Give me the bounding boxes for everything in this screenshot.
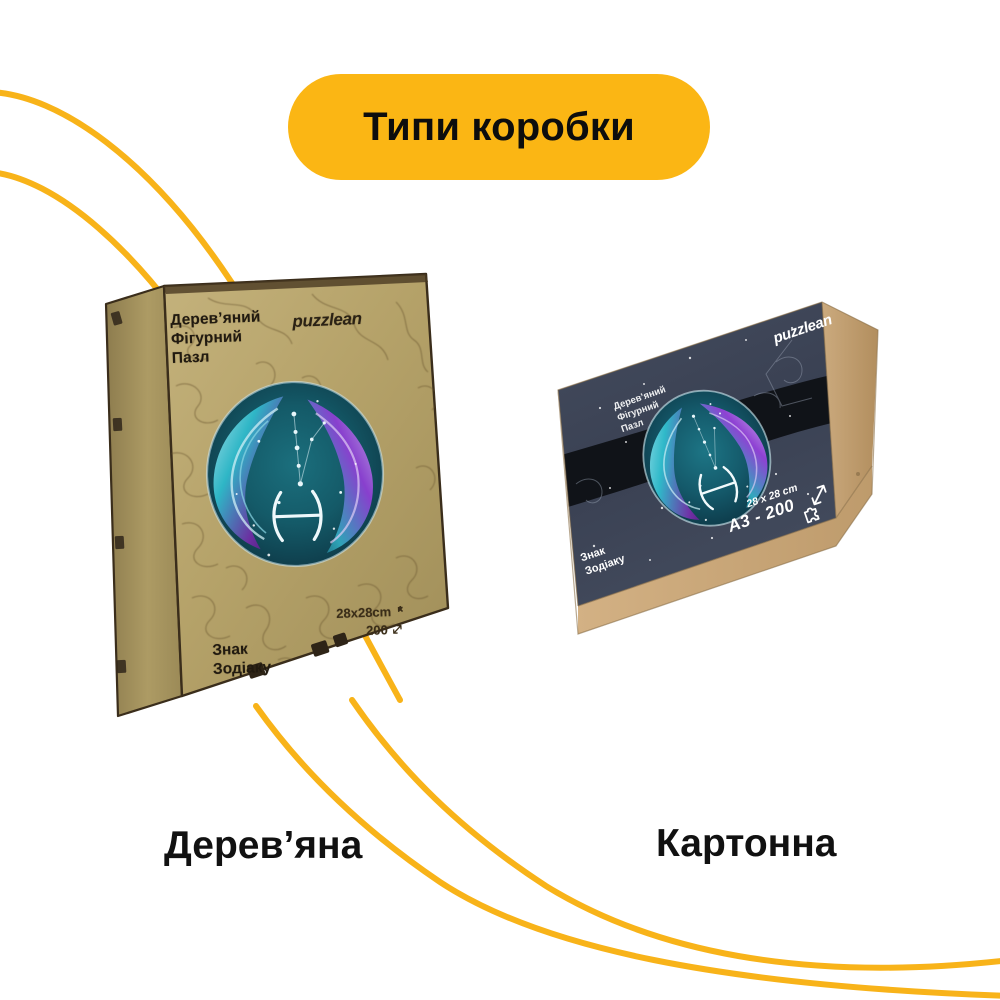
cardboard-box-vent-hole: [856, 472, 860, 476]
caption-cardboard: Картонна: [656, 824, 837, 863]
page-title: Типи коробки: [363, 107, 635, 147]
swoosh-line-bottom-1: [256, 706, 1000, 996]
cardboard-box-illustration: [540, 288, 890, 658]
poster-canvas: Дерев’яний Фігурний Пазл puzzlean: [0, 0, 1000, 1000]
caption-wooden: Дерев’яна: [164, 826, 362, 865]
wooden-box-illustration: [96, 268, 468, 740]
cardboard-box-product: puzzlean Дерев’яний Фігурний Пазл: [540, 288, 890, 658]
wooden-box-product: Дерев’яний Фігурний Пазл puzzlean: [96, 268, 468, 740]
page-title-pill: Типи коробки: [288, 74, 710, 180]
